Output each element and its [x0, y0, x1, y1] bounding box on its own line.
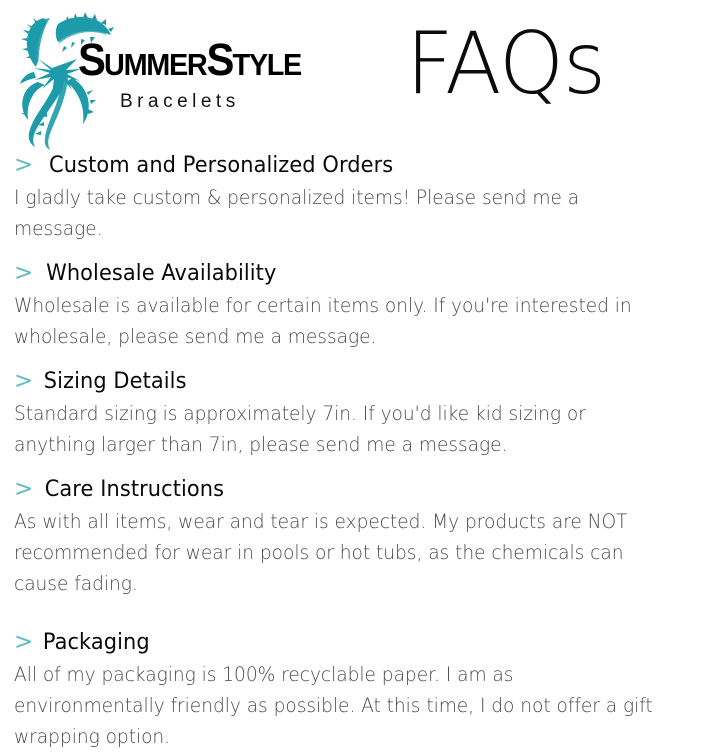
brand-subtitle: Bracelets	[120, 91, 308, 113]
faq-question-text: Custom and Personalized Orders	[49, 152, 393, 180]
chevron-right-icon: >	[14, 629, 33, 655]
brand-name-ummer: UMMER	[104, 47, 206, 82]
faq-question-text: Wholesale Availability	[46, 260, 276, 288]
chevron-right-icon: >	[14, 260, 33, 286]
brand-name: SUMMERSTYLE	[78, 40, 292, 85]
faq-item-custom-and-personalized-orders: > Custom and Personalized Orders I gladl…	[14, 152, 704, 244]
faq-answer-text: I gladly take custom & personalized item…	[14, 182, 669, 244]
faq-item-wholesale-availability: > Wholesale Availability Wholesale is av…	[14, 260, 704, 352]
faq-question-text: Care Instructions	[45, 476, 224, 504]
faq-answer-text: Wholesale is available for certain items…	[14, 290, 669, 352]
faq-answer-text: As with all items, wear and tear is expe…	[14, 506, 669, 599]
faq-item-care-instructions: > Care Instructions As with all items, w…	[14, 476, 704, 599]
faq-question-row[interactable]: > Wholesale Availability	[14, 260, 704, 288]
faq-question-row[interactable]: > Custom and Personalized Orders	[14, 152, 704, 180]
brand-name-s1: S	[78, 34, 104, 85]
faq-page: SUMMERSTYLE Bracelets FAQs > Custom and …	[0, 0, 720, 720]
chevron-right-icon: >	[14, 152, 33, 178]
faq-item-packaging: > Packaging All of my packaging is 100% …	[14, 629, 704, 752]
faq-question-text: Sizing Details	[44, 368, 187, 396]
chevron-right-icon: >	[14, 368, 33, 394]
brand-logo-block: SUMMERSTYLE Bracelets	[10, 8, 310, 148]
page-title: FAQs	[406, 12, 605, 116]
faq-question-row[interactable]: > Packaging	[14, 629, 704, 657]
faq-list: > Custom and Personalized Orders I gladl…	[14, 152, 704, 752]
faq-question-row[interactable]: > Sizing Details	[14, 368, 704, 396]
brand-name-s2: S	[206, 34, 232, 85]
faq-question-row[interactable]: > Care Instructions	[14, 476, 704, 504]
faq-item-sizing-details: > Sizing Details Standard sizing is appr…	[14, 368, 704, 460]
faq-question-text: Packaging	[43, 629, 150, 657]
faq-answer-text: Standard sizing is approximately 7in. If…	[14, 398, 669, 460]
page-header: SUMMERSTYLE Bracelets FAQs	[0, 0, 720, 150]
faq-answer-text: All of my packaging is 100% recyclable p…	[14, 659, 669, 752]
brand-name-tyle: TYLE	[233, 47, 301, 82]
brand-wordmark: SUMMERSTYLE Bracelets	[78, 40, 308, 113]
chevron-right-icon: >	[14, 476, 33, 502]
